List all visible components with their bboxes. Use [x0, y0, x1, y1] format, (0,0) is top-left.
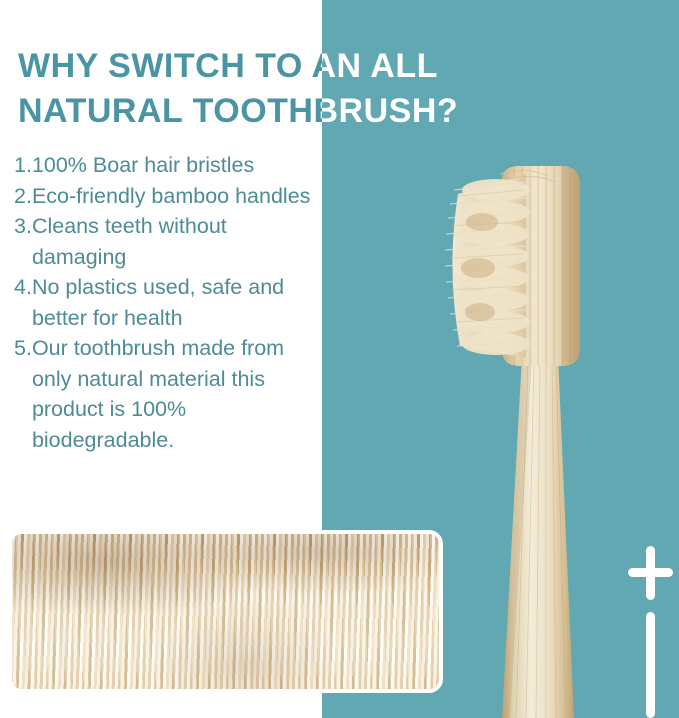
toothbrush-product-image: [440, 160, 640, 718]
benefits-list: 1. 100% Boar hair bristles 2. Eco-friend…: [14, 150, 320, 455]
list-item-text: Our toothbrush made from only natural ma…: [32, 333, 320, 455]
plus-marker: [626, 546, 672, 718]
list-item-number: 5.: [14, 333, 32, 364]
vertical-line-icon: [646, 612, 655, 718]
bristle-closeup-photo: [8, 530, 443, 693]
list-item: 4. No plastics used, safe and better for…: [14, 272, 320, 333]
list-item: 3. Cleans teeth without damaging: [14, 211, 320, 272]
list-item: 2. Eco-friendly bamboo handles: [14, 181, 320, 212]
list-item: 1. 100% Boar hair bristles: [14, 150, 320, 181]
list-item-number: 4.: [14, 272, 32, 303]
bristle-shading: [12, 534, 439, 689]
list-item-number: 2.: [14, 181, 32, 212]
list-item-number: 3.: [14, 211, 32, 242]
list-item: 5. Our toothbrush made from only natural…: [14, 333, 320, 455]
plus-icon-cross: [628, 568, 673, 577]
list-item-text: Cleans teeth without damaging: [32, 211, 320, 272]
list-item-text: No plastics used, safe and better for he…: [32, 272, 320, 333]
list-item-text: Eco-friendly bamboo handles: [32, 181, 320, 212]
page-title: WHY SWITCH TO AN ALL NATURAL TOOTHBRUSH?: [18, 44, 618, 134]
infographic-canvas: WHY SWITCH TO AN ALL NATURAL TOOTHBRUSH?…: [0, 0, 679, 718]
list-item-text: 100% Boar hair bristles: [32, 150, 320, 181]
list-item-number: 1.: [14, 150, 32, 181]
